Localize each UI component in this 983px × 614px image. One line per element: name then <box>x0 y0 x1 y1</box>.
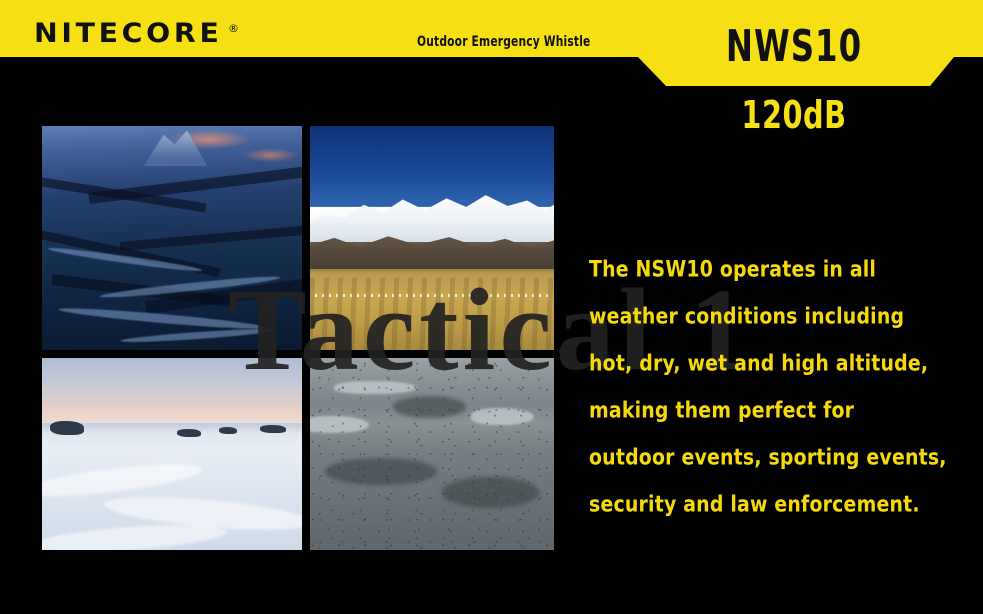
description-line: The NSW10 operates in all <box>589 245 967 295</box>
decorative-rock <box>177 429 200 437</box>
description-line: outdoor events, sporting events, <box>589 433 967 483</box>
photo-snowy-river-valley <box>42 126 302 350</box>
description-line: weather conditions including <box>589 292 967 342</box>
decorative-grass-texture <box>310 278 554 350</box>
decorative-ridge <box>88 166 302 204</box>
description-text: The NSW10 operates in all weather condit… <box>589 246 967 528</box>
decorative-gravel-texture <box>310 358 554 550</box>
decorative-river <box>120 327 276 345</box>
product-tagline: Outdoor Emergency Whistle <box>417 33 590 50</box>
description-line: making them perfect for <box>589 386 967 436</box>
photo-wet-gray-ground <box>310 358 554 550</box>
loudness-rating: 120dB <box>634 92 954 138</box>
decorative-rock <box>50 421 84 434</box>
product-slide: NITECORE ® Outdoor Emergency Whistle NWS… <box>0 0 983 614</box>
decorative-snowcap <box>136 130 214 166</box>
decorative-rock <box>219 427 237 434</box>
photo-windswept-snow-field <box>42 358 302 550</box>
decorative-snow-drift <box>42 458 204 503</box>
description-line: security and law enforcement. <box>589 480 967 530</box>
brand-logo: NITECORE <box>34 18 222 49</box>
photo-snow-peaks-golden-plain <box>310 126 554 350</box>
decorative-snow-peaks <box>310 189 554 243</box>
decorative-snow-drift <box>42 520 227 550</box>
decorative-rock <box>260 425 286 433</box>
description-line: hot, dry, wet and high altitude, <box>589 339 967 389</box>
decorative-ridge <box>120 224 302 251</box>
photo-gallery <box>42 126 554 550</box>
registered-trademark-icon: ® <box>228 22 239 35</box>
model-name: NWS10 <box>634 22 954 72</box>
